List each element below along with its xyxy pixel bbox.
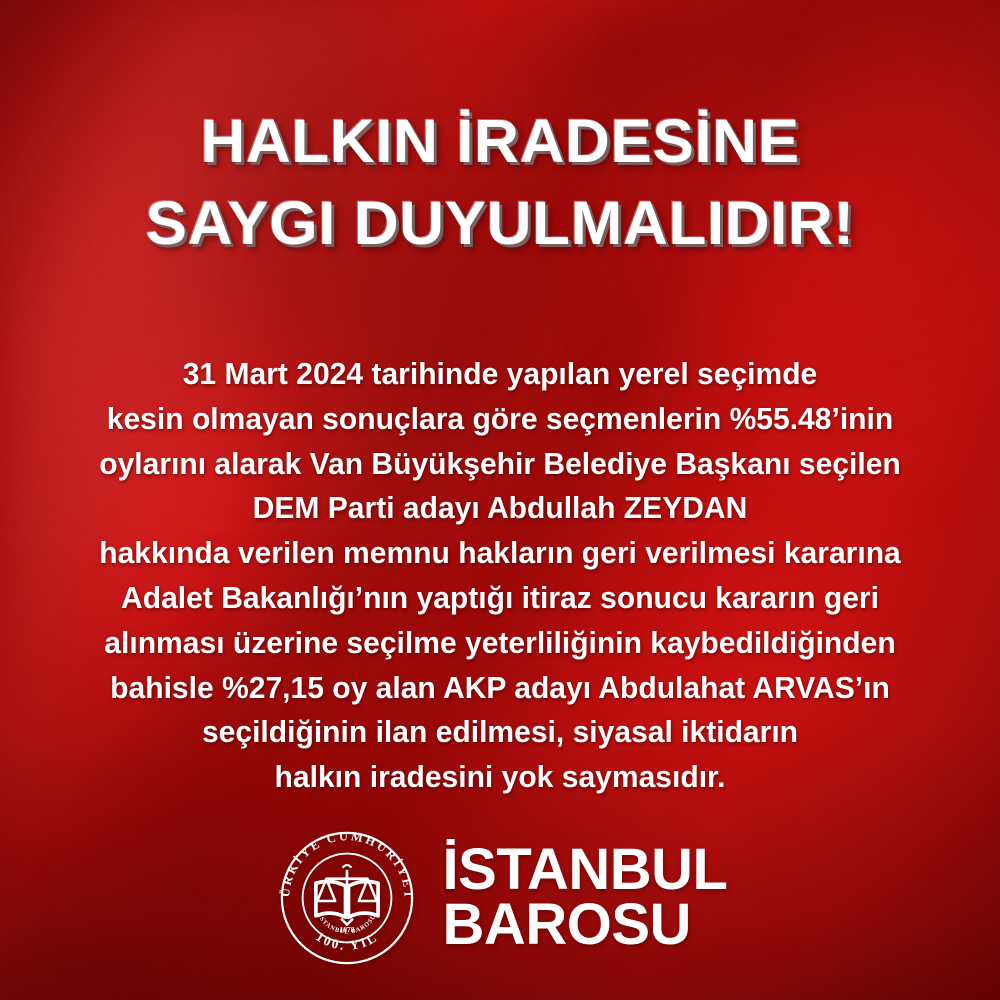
statement-line-7: alınması üzerine seçilme yeterliliğinin …	[47, 621, 953, 666]
statement-line-9: seçildiğinin ilan edilmesi, siyasal ikti…	[47, 710, 953, 755]
bar-association-seal-icon: TÜRKİYE CUMHURİYETİ 100. YIL	[273, 824, 421, 972]
statement-line-3: oylarını alarak Van Büyükşehir Belediye …	[47, 442, 953, 487]
poster-canvas: HALKIN İRADESİNE SAYGI DUYULMALIDIR! 31 …	[0, 0, 1000, 1000]
headline-line-2: SAYGI DUYULMALIDIR!	[0, 182, 1000, 264]
poster-content: HALKIN İRADESİNE SAYGI DUYULMALIDIR! 31 …	[0, 0, 1000, 1000]
wordmark-line-1: İSTANBUL	[443, 843, 728, 898]
statement-line-6: Adalet Bakanlığı’nın yaptığı itiraz sonu…	[47, 576, 953, 621]
statement-line-4: DEM Parti adayı Abdullah ZEYDAN	[47, 486, 953, 531]
scales-of-justice-icon	[317, 865, 376, 911]
logo-lockup: TÜRKİYE CUMHURİYETİ 100. YIL	[0, 818, 1000, 978]
statement-line-2: kesin olmayan sonuçlara göre seçmenlerin…	[47, 397, 953, 442]
wordmark-line-2: BAROSU	[443, 898, 728, 953]
headline-line-1: HALKIN İRADESİNE	[0, 100, 1000, 182]
statement-line-8: bahisle %27,15 oy alan AKP adayı Abdulah…	[47, 666, 953, 711]
statement-line-1: 31 Mart 2024 tarihinde yapılan yerel seç…	[47, 352, 953, 397]
statement-line-10: halkın iradesini yok saymasıdır.	[47, 755, 953, 800]
statement-body: 31 Mart 2024 tarihinde yapılan yerel seç…	[47, 352, 953, 800]
istanbul-barosu-wordmark: İSTANBUL BAROSU	[443, 843, 728, 952]
statement-line-5: hakkında verilen memnu hakların geri ver…	[47, 531, 953, 576]
headline: HALKIN İRADESİNE SAYGI DUYULMALIDIR!	[0, 100, 1000, 264]
